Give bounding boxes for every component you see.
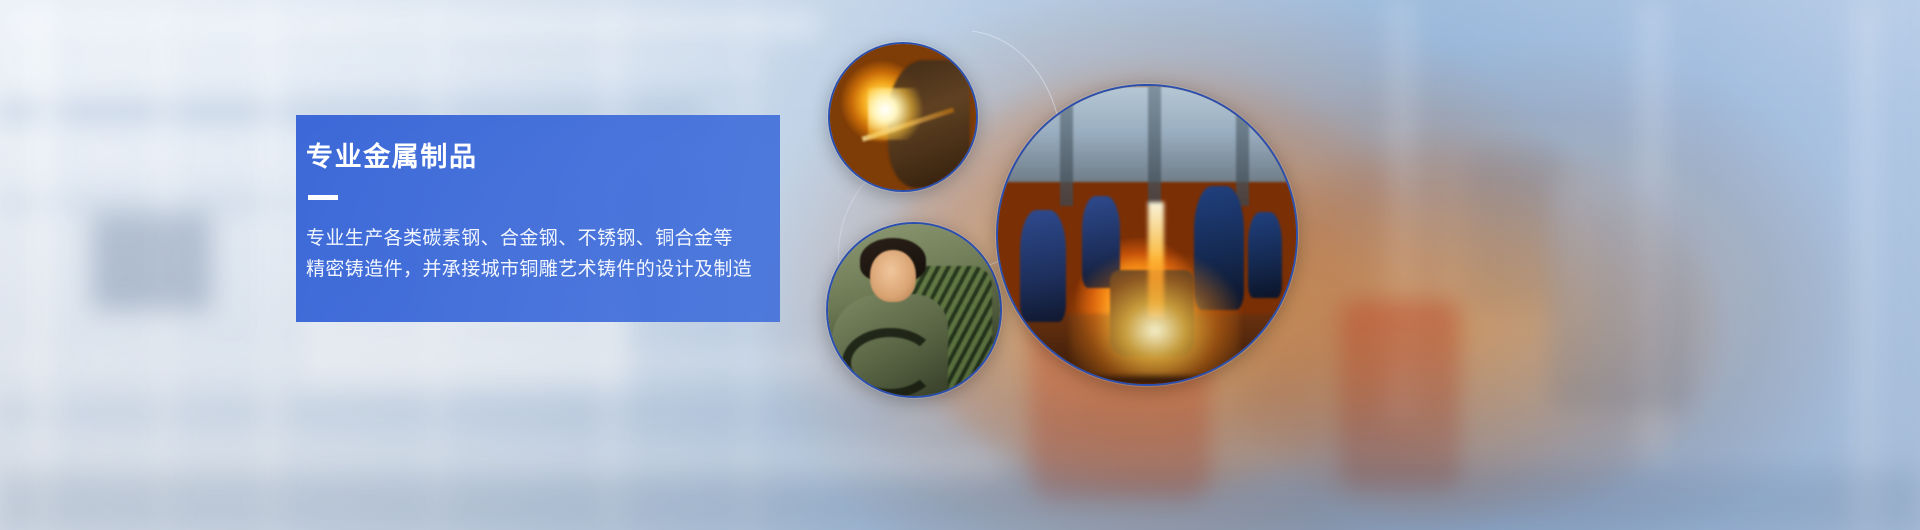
description-text: 专业生产各类碳素钢、合金钢、不锈钢、铜合金等 精密铸造件，并承接城市铜雕艺术铸件… [306, 224, 996, 286]
content-panel-text: 专业金属制品 专业生产各类碳素钢、合金钢、不锈钢、铜合金等 精密铸造件，并承接城… [296, 115, 996, 322]
description-line-2: 精密铸造件，并承接城市铜雕艺术铸件的设计及制造 [306, 255, 996, 286]
worker-hose [842, 328, 938, 398]
title-divider [308, 195, 338, 200]
workshop-column-left [1060, 86, 1073, 206]
foundry-worker-far-right [1248, 212, 1282, 298]
foundry-worker-left [1020, 210, 1066, 322]
workshop-column-mid [1148, 86, 1161, 206]
foundry-pour-photo-circle [996, 84, 1298, 386]
page-title: 专业金属制品 [306, 142, 996, 173]
description-line-1: 专业生产各类碳素钢、合金钢、不锈钢、铜合金等 [306, 224, 996, 255]
workshop-column-right [1236, 86, 1249, 206]
molten-glow [1070, 256, 1240, 376]
hero-banner: 专业金属制品 专业生产各类碳素钢、合金钢、不锈钢、铜合金等 精密铸造件，并承接城… [0, 0, 1920, 530]
